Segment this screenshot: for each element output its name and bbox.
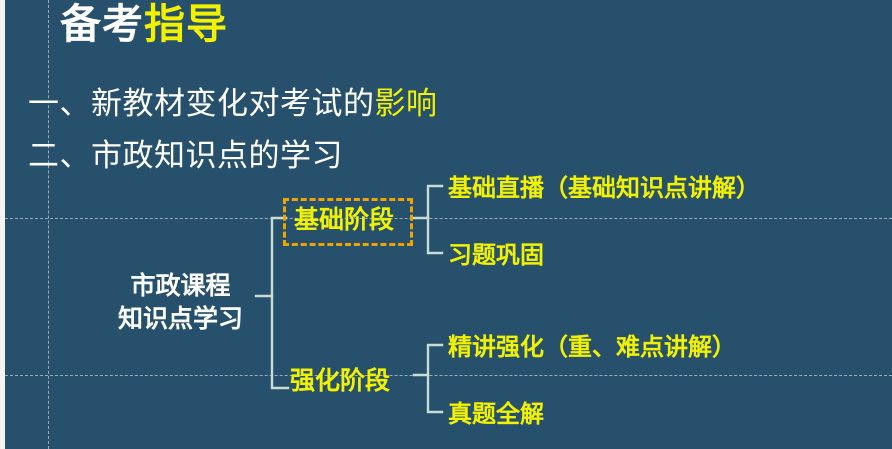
bracket-connectors <box>0 0 892 449</box>
diagram-stage-2-label: 强化阶段 <box>290 368 390 393</box>
guide-line-horizontal-lower <box>0 375 892 376</box>
agenda-item-1: 一、新教材变化对考试的影响 <box>28 89 438 120</box>
slide-left-edge <box>0 0 5 449</box>
agenda-item-1-index: 一、 <box>28 86 91 122</box>
slide-canvas: 备考指导 一、新教材变化对考试的影响 二、市政知识点的学习 市政课程 知识点学习… <box>0 0 892 449</box>
agenda-item-1-highlight: 影响 <box>375 86 438 122</box>
bracket-stage-2 <box>428 345 442 412</box>
page-title-yellow-part: 指导 <box>144 0 228 48</box>
diagram-stage-2-child-1: 精讲强化（重、难点讲解） <box>448 335 736 359</box>
diagram-stage-1-label: 基础阶段 <box>288 205 400 234</box>
diagram-root-node: 市政课程 知识点学习 <box>118 269 243 335</box>
page-title: 备考指导 <box>60 4 228 45</box>
guide-line-vertical <box>48 0 49 449</box>
page-title-white-part: 备考 <box>60 0 144 48</box>
diagram-stage-1-child-1: 基础直播（基础知识点讲解） <box>448 176 760 200</box>
agenda-item-2: 二、市政知识点的学习 <box>28 141 343 172</box>
agenda-item-2-text: 市政知识点的学习 <box>91 138 343 174</box>
bracket-stage-1 <box>428 186 442 253</box>
agenda-item-2-index: 二、 <box>28 138 91 174</box>
diagram-stage-1-child-2: 习题巩固 <box>448 243 544 267</box>
diagram-stage-2-child-2: 真题全解 <box>448 402 544 426</box>
guide-line-horizontal-upper <box>0 218 892 219</box>
agenda-item-1-text: 新教材变化对考试的 <box>91 86 375 122</box>
